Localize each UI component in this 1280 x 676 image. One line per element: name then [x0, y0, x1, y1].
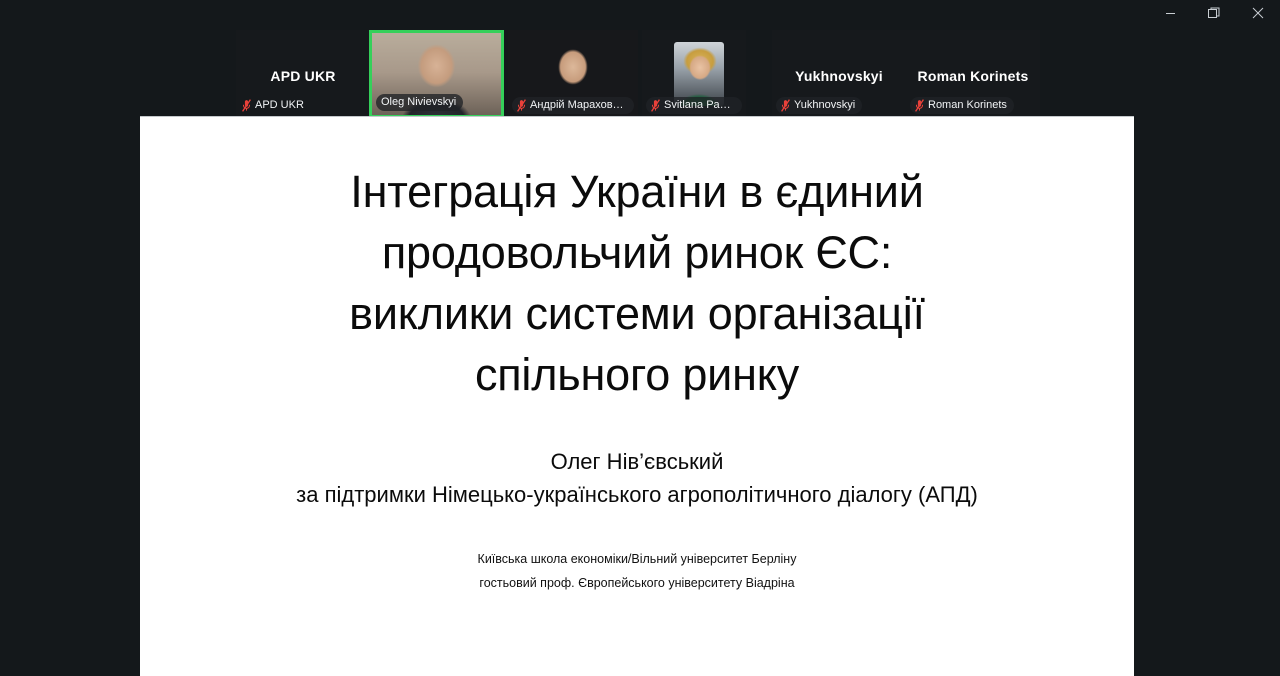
participant-badge-label: Roman Korinets: [928, 98, 1007, 112]
participant-name-badge: Yukhnovskyi: [776, 97, 862, 114]
microphone-muted-icon: [242, 99, 251, 112]
participant-badge-label: APD UKR: [255, 98, 304, 112]
participant-name-badge: Oleg Nivievskyi: [376, 94, 463, 111]
participant-name-badge: APD UKR: [240, 97, 311, 114]
shared-screen-slide[interactable]: Інтеграція України в єдиний продовольчий…: [140, 116, 1134, 676]
participant-tile-oleg-nivievskyi[interactable]: Oleg Nivievskyi: [369, 30, 504, 118]
slide-content: Інтеграція України в єдиний продовольчий…: [140, 117, 1134, 595]
participant-badge-label: Андрій Мараховський: [530, 98, 627, 112]
slide-author: Олег Нів’євський: [164, 445, 1110, 478]
participant-name-center: APD UKR: [236, 68, 370, 84]
window-title-bar: [0, 0, 1280, 26]
slide-title-line: спільного ринку: [164, 344, 1110, 405]
participant-badge-label: Oleg Nivievskyi: [381, 95, 456, 109]
slide-title-line: виклики системи організації: [164, 283, 1110, 344]
participant-name-badge: Андрій Мараховський: [512, 97, 634, 114]
slide-support-line: за підтримки Німецько-українського агроп…: [164, 478, 1110, 511]
restore-button[interactable]: [1192, 0, 1236, 26]
participant-tile-andrii-marakhovskyi[interactable]: Андрій Мараховський: [508, 30, 638, 118]
participant-tile-yukhnovskyi[interactable]: Yukhnovskyi Yukhnovskyi: [772, 30, 906, 118]
participant-tile-svitlana-pavlenko[interactable]: Svitlana Pavlenko: [642, 30, 746, 118]
participant-badge-label: Svitlana Pavlenko: [664, 98, 735, 112]
slide-title: Інтеграція України в єдиний продовольчий…: [164, 161, 1110, 405]
slide-title-line: Інтеграція України в єдиний: [164, 161, 1110, 222]
close-button[interactable]: [1236, 0, 1280, 26]
participant-name-badge: Roman Korinets: [910, 97, 1014, 114]
slide-affiliation: Київська школа економіки/Вільний універс…: [164, 547, 1110, 595]
participant-name-center: Roman Korinets: [906, 68, 1040, 84]
slide-affiliation-line: Київська школа економіки/Вільний універс…: [164, 547, 1110, 571]
participant-tile-apd-ukr[interactable]: APD UKR APD UKR: [236, 30, 370, 118]
participant-filmstrip: APD UKR APD UKR Oleg Nivievskyi: [0, 30, 1280, 118]
microphone-muted-icon: [651, 99, 660, 112]
participant-tile-roman-korinets[interactable]: Roman Korinets Roman Korinets: [906, 30, 1040, 118]
slide-affiliation-line: гостьовий проф. Європейського університе…: [164, 571, 1110, 595]
slide-title-line: продовольчий ринок ЄС:: [164, 222, 1110, 283]
zoom-meeting-window: APD UKR APD UKR Oleg Nivievskyi: [0, 0, 1280, 676]
minimize-button[interactable]: [1148, 0, 1192, 26]
microphone-muted-icon: [517, 99, 526, 112]
participant-badge-label: Yukhnovskyi: [794, 98, 855, 112]
microphone-muted-icon: [915, 99, 924, 112]
participant-name-center: Yukhnovskyi: [772, 68, 906, 84]
participant-name-badge: Svitlana Pavlenko: [646, 97, 742, 114]
microphone-muted-icon: [781, 99, 790, 112]
